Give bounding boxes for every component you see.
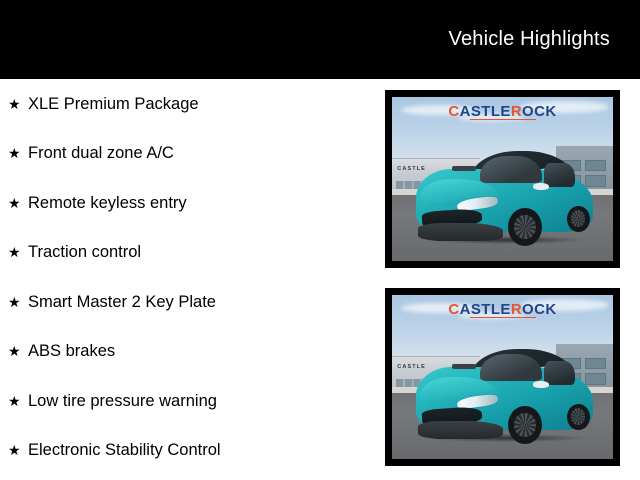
car-rim [514, 215, 535, 240]
car-front-bumper [418, 223, 503, 241]
header-bar: Vehicle Highlights [0, 0, 640, 79]
watermark-letter-c: C [448, 103, 459, 120]
list-item: ★ Front dual zone A/C [0, 129, 370, 179]
car-wheel-front [508, 208, 542, 247]
star-icon: ★ [8, 295, 28, 309]
star-icon: ★ [8, 146, 28, 160]
star-icon: ★ [8, 97, 28, 111]
vehicle-car-shape [416, 145, 593, 247]
list-item-label: Low tire pressure warning [28, 393, 217, 410]
car-side-mirror [533, 381, 549, 388]
star-icon: ★ [8, 245, 28, 259]
watermark-underline [470, 317, 536, 319]
watermark-text-ock: OCK [522, 301, 557, 318]
car-rim [571, 408, 586, 425]
list-item: ★ Smart Master 2 Key Plate [0, 277, 370, 327]
watermark-text-astle: ASTLE [460, 103, 511, 120]
car-wheel-front [508, 406, 542, 445]
star-icon: ★ [8, 443, 28, 457]
castlerock-watermark: CASTLEROCK [392, 104, 613, 119]
car-side-window [544, 361, 576, 385]
star-icon: ★ [8, 394, 28, 408]
watermark-letter-c: C [448, 301, 459, 318]
car-rim [514, 413, 535, 438]
vehicle-car-shape [416, 343, 593, 445]
watermark-text-astle: ASTLE [460, 301, 511, 318]
car-wheel-rear [567, 206, 590, 232]
car-antenna [452, 166, 477, 171]
list-item: ★ Remote keyless entry [0, 178, 370, 228]
vehicle-highlights-list: ★ XLE Premium Package ★ Front dual zone … [0, 79, 370, 475]
car-front-bumper [418, 421, 503, 439]
castlerock-watermark: CASTLEROCK [392, 302, 613, 317]
list-item: ★ ABS brakes [0, 327, 370, 377]
watermark-underline [470, 119, 536, 121]
list-item-label: Front dual zone A/C [28, 145, 174, 162]
list-item-label: Electronic Stability Control [28, 442, 221, 459]
car-rim [571, 210, 586, 227]
car-side-mirror [533, 183, 549, 190]
car-side-window [544, 163, 576, 187]
star-icon: ★ [8, 196, 28, 210]
car-antenna [452, 364, 477, 369]
list-item: ★ Low tire pressure warning [0, 376, 370, 426]
list-item: ★ Traction control [0, 228, 370, 278]
watermark-letter-r: R [511, 301, 522, 318]
list-item: ★ Electronic Stability Control [0, 426, 370, 476]
list-item-label: Remote keyless entry [28, 195, 187, 212]
list-item: ★ XLE Premium Package [0, 79, 370, 129]
watermark-letter-r: R [511, 103, 522, 120]
car-wheel-rear [567, 404, 590, 430]
watermark-text-ock: OCK [522, 103, 557, 120]
star-icon: ★ [8, 344, 28, 358]
vehicle-photo-bottom[interactable]: CASTLE [385, 288, 620, 466]
list-item-label: ABS brakes [28, 343, 115, 360]
vehicle-photo-image: CASTLE [392, 295, 613, 459]
list-item-label: Smart Master 2 Key Plate [28, 294, 216, 311]
car-windshield [480, 156, 542, 183]
vehicle-photo-top[interactable]: CASTLE [385, 90, 620, 268]
page-title: Vehicle Highlights [449, 28, 610, 51]
vehicle-photo-image: CASTLE [392, 97, 613, 261]
car-windshield [480, 354, 542, 381]
list-item-label: Traction control [28, 244, 141, 261]
list-item-label: XLE Premium Package [28, 96, 199, 113]
